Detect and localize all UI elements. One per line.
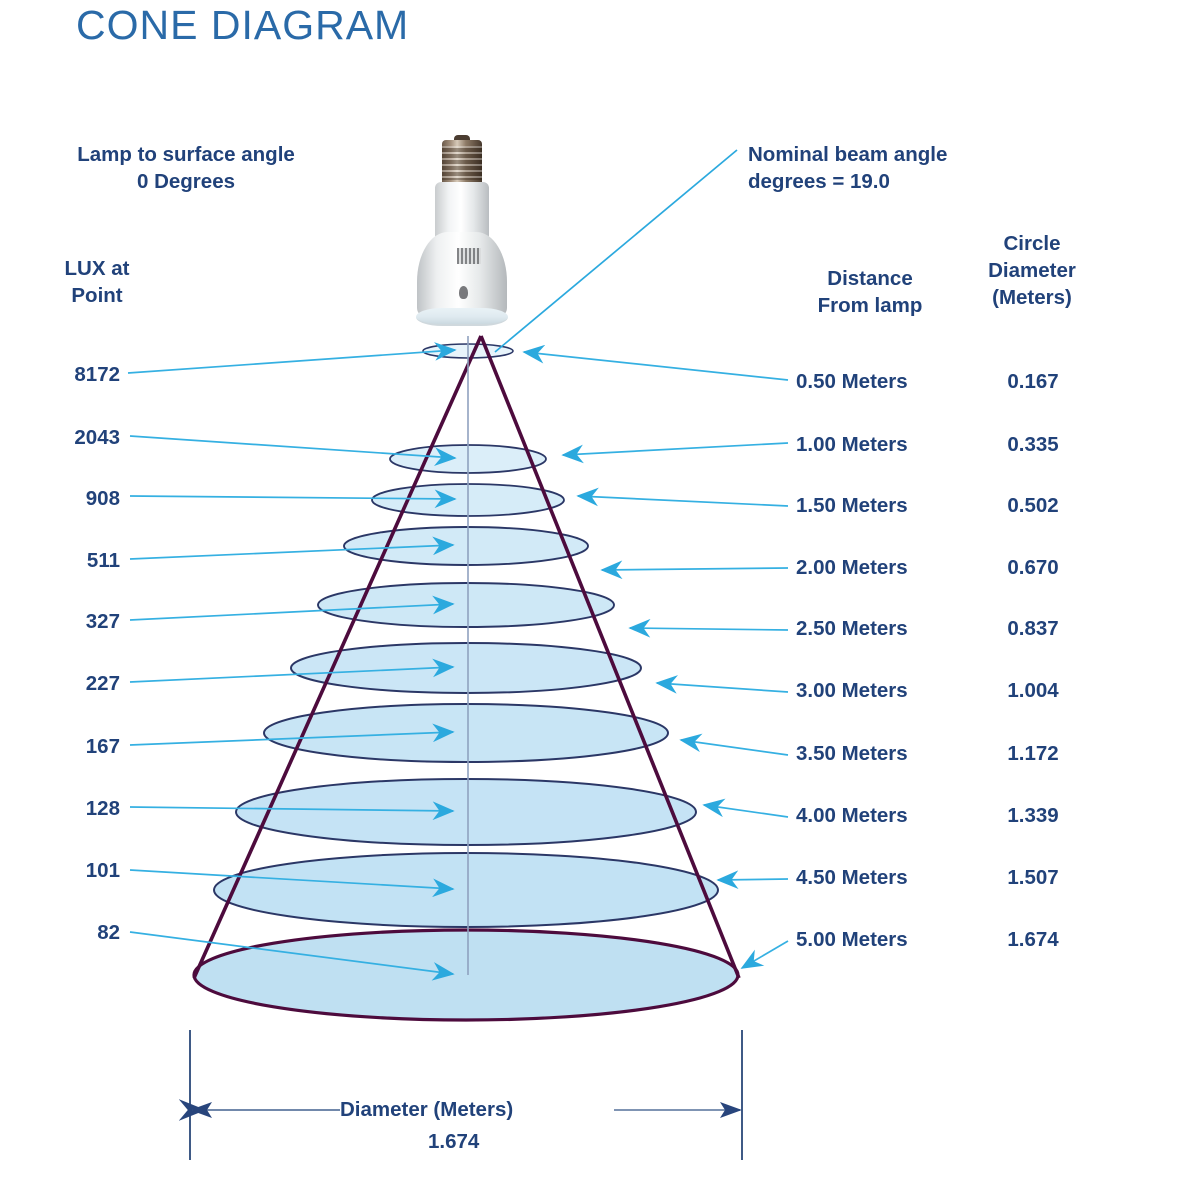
cone-shape [194,336,741,1020]
distance-value: 3.00 Meters [796,679,946,703]
beam-disc-8 [236,779,696,845]
lux-value: 327 [10,610,120,634]
diameter-value: 0.167 [978,370,1088,394]
lamp-screw-base-icon [442,140,482,186]
distance-value: 4.50 Meters [796,866,946,890]
diameter-value: 1.339 [978,804,1088,828]
beam-disc-10 [194,930,738,1020]
diameter-value: 0.502 [978,494,1088,518]
diameter-header-line2: Diameter [962,257,1102,284]
cone-diagram: CONE DIAGRAM Lamp to surface angle 0 Deg… [0,0,1200,1200]
distance-value: 2.00 Meters [796,556,946,580]
lamp-angle-annotation: Lamp to surface angle 0 Degrees [52,141,320,195]
dimension-label: Diameter (Meters) [340,1098,513,1122]
diameter-value: 1.172 [978,742,1088,766]
lamp-bulb [414,140,510,340]
lamp-body [417,232,507,318]
distance-value: 0.50 Meters [796,370,946,394]
lux-header-line1: LUX at [42,255,152,282]
beam-disc-6 [291,643,641,693]
lamp-marking-icon [459,286,468,299]
lamp-lens-face [416,308,508,326]
dimension-value: 1.674 [428,1130,479,1154]
lux-column-header: LUX at Point [42,255,152,309]
diameter-value: 0.670 [978,556,1088,580]
lux-value: 101 [10,859,120,883]
distance-value: 1.50 Meters [796,494,946,518]
diameter-header-line3: (Meters) [962,284,1102,311]
distance-header-line2: From lamp [800,292,940,319]
distance-value: 4.00 Meters [796,804,946,828]
beam-angle-line2: degrees = 19.0 [748,168,1008,195]
distance-value: 3.50 Meters [796,742,946,766]
lux-value: 511 [10,549,120,573]
distance-header-line1: Distance [800,265,940,292]
lamp-label-icon [457,248,481,264]
lux-header-line2: Point [42,282,152,309]
lux-value: 82 [10,921,120,945]
diameter-header-line1: Circle [962,230,1102,257]
diameter-value: 0.335 [978,433,1088,457]
distance-value: 1.00 Meters [796,433,946,457]
beam-disc-7 [264,704,668,762]
lux-value: 2043 [10,426,120,450]
lamp-angle-line1: Lamp to surface angle [52,141,320,168]
beam-angle-leader [495,150,737,352]
beam-angle-line1: Nominal beam angle [748,141,1008,168]
lux-value: 908 [10,487,120,511]
lux-value: 167 [10,735,120,759]
distance-column-header: Distance From lamp [800,265,940,319]
diameter-value: 0.837 [978,617,1088,641]
beam-angle-annotation: Nominal beam angle degrees = 19.0 [748,141,1008,195]
distance-value: 5.00 Meters [796,928,946,952]
lux-value: 227 [10,672,120,696]
lux-value: 128 [10,797,120,821]
diameter-value: 1.004 [978,679,1088,703]
diameter-column-header: Circle Diameter (Meters) [962,230,1102,311]
beam-disc-9 [214,853,718,927]
page-title: CONE DIAGRAM [76,2,409,49]
distance-value: 2.50 Meters [796,617,946,641]
diameter-value: 1.674 [978,928,1088,952]
lux-value: 8172 [10,363,120,387]
diameter-value: 1.507 [978,866,1088,890]
lamp-angle-line2: 0 Degrees [52,168,320,195]
